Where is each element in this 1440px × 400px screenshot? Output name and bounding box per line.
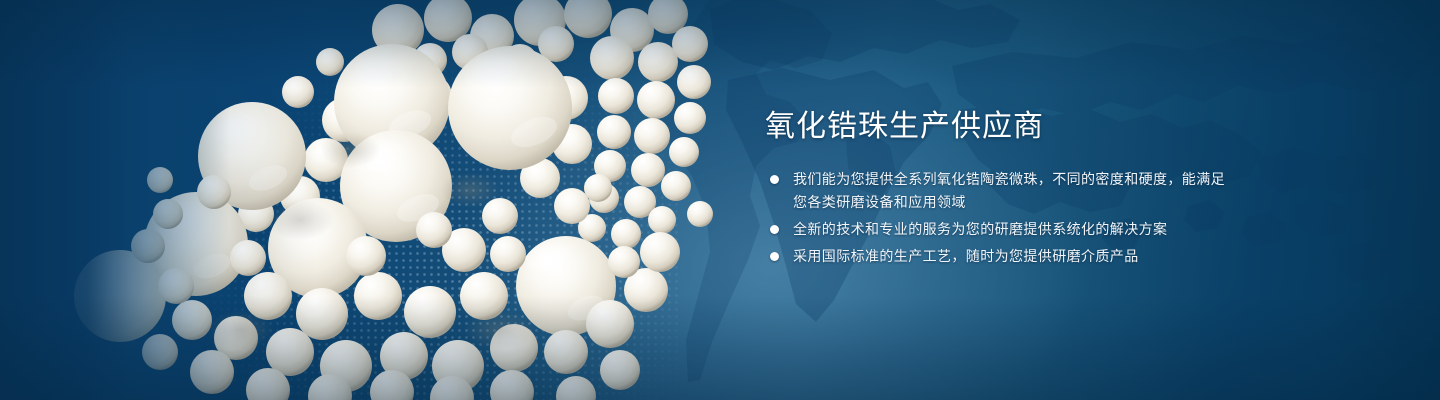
feature-list: 我们能为您提供全系列氧化锆陶瓷微珠，不同的密度和硬度，能满足您各类研磨设备和应用… — [765, 168, 1235, 268]
list-item-text: 我们能为您提供全系列氧化锆陶瓷微珠，不同的密度和硬度，能满足您各类研磨设备和应用… — [793, 171, 1225, 210]
list-item: 我们能为您提供全系列氧化锆陶瓷微珠，不同的密度和硬度，能满足您各类研磨设备和应用… — [765, 168, 1235, 214]
page-title: 氧化锆珠生产供应商 — [765, 108, 1235, 146]
product-hero-banner: 氧化锆珠生产供应商 我们能为您提供全系列氧化锆陶瓷微珠，不同的密度和硬度，能满足… — [0, 0, 1440, 400]
hero-copy-block: 氧化锆珠生产供应商 我们能为您提供全系列氧化锆陶瓷微珠，不同的密度和硬度，能满足… — [765, 108, 1235, 268]
list-item-text: 采用国际标准的生产工艺，随时为您提供研磨介质产品 — [793, 248, 1139, 264]
bullet-dot-icon — [770, 175, 779, 184]
list-item: 全新的技术和专业的服务为您的研磨提供系统化的解决方案 — [765, 218, 1235, 241]
bullet-dot-icon — [770, 252, 779, 261]
list-item-text: 全新的技术和专业的服务为您的研磨提供系统化的解决方案 — [793, 221, 1167, 237]
bullet-dot-icon — [770, 225, 779, 234]
list-item: 采用国际标准的生产工艺，随时为您提供研磨介质产品 — [765, 245, 1235, 268]
